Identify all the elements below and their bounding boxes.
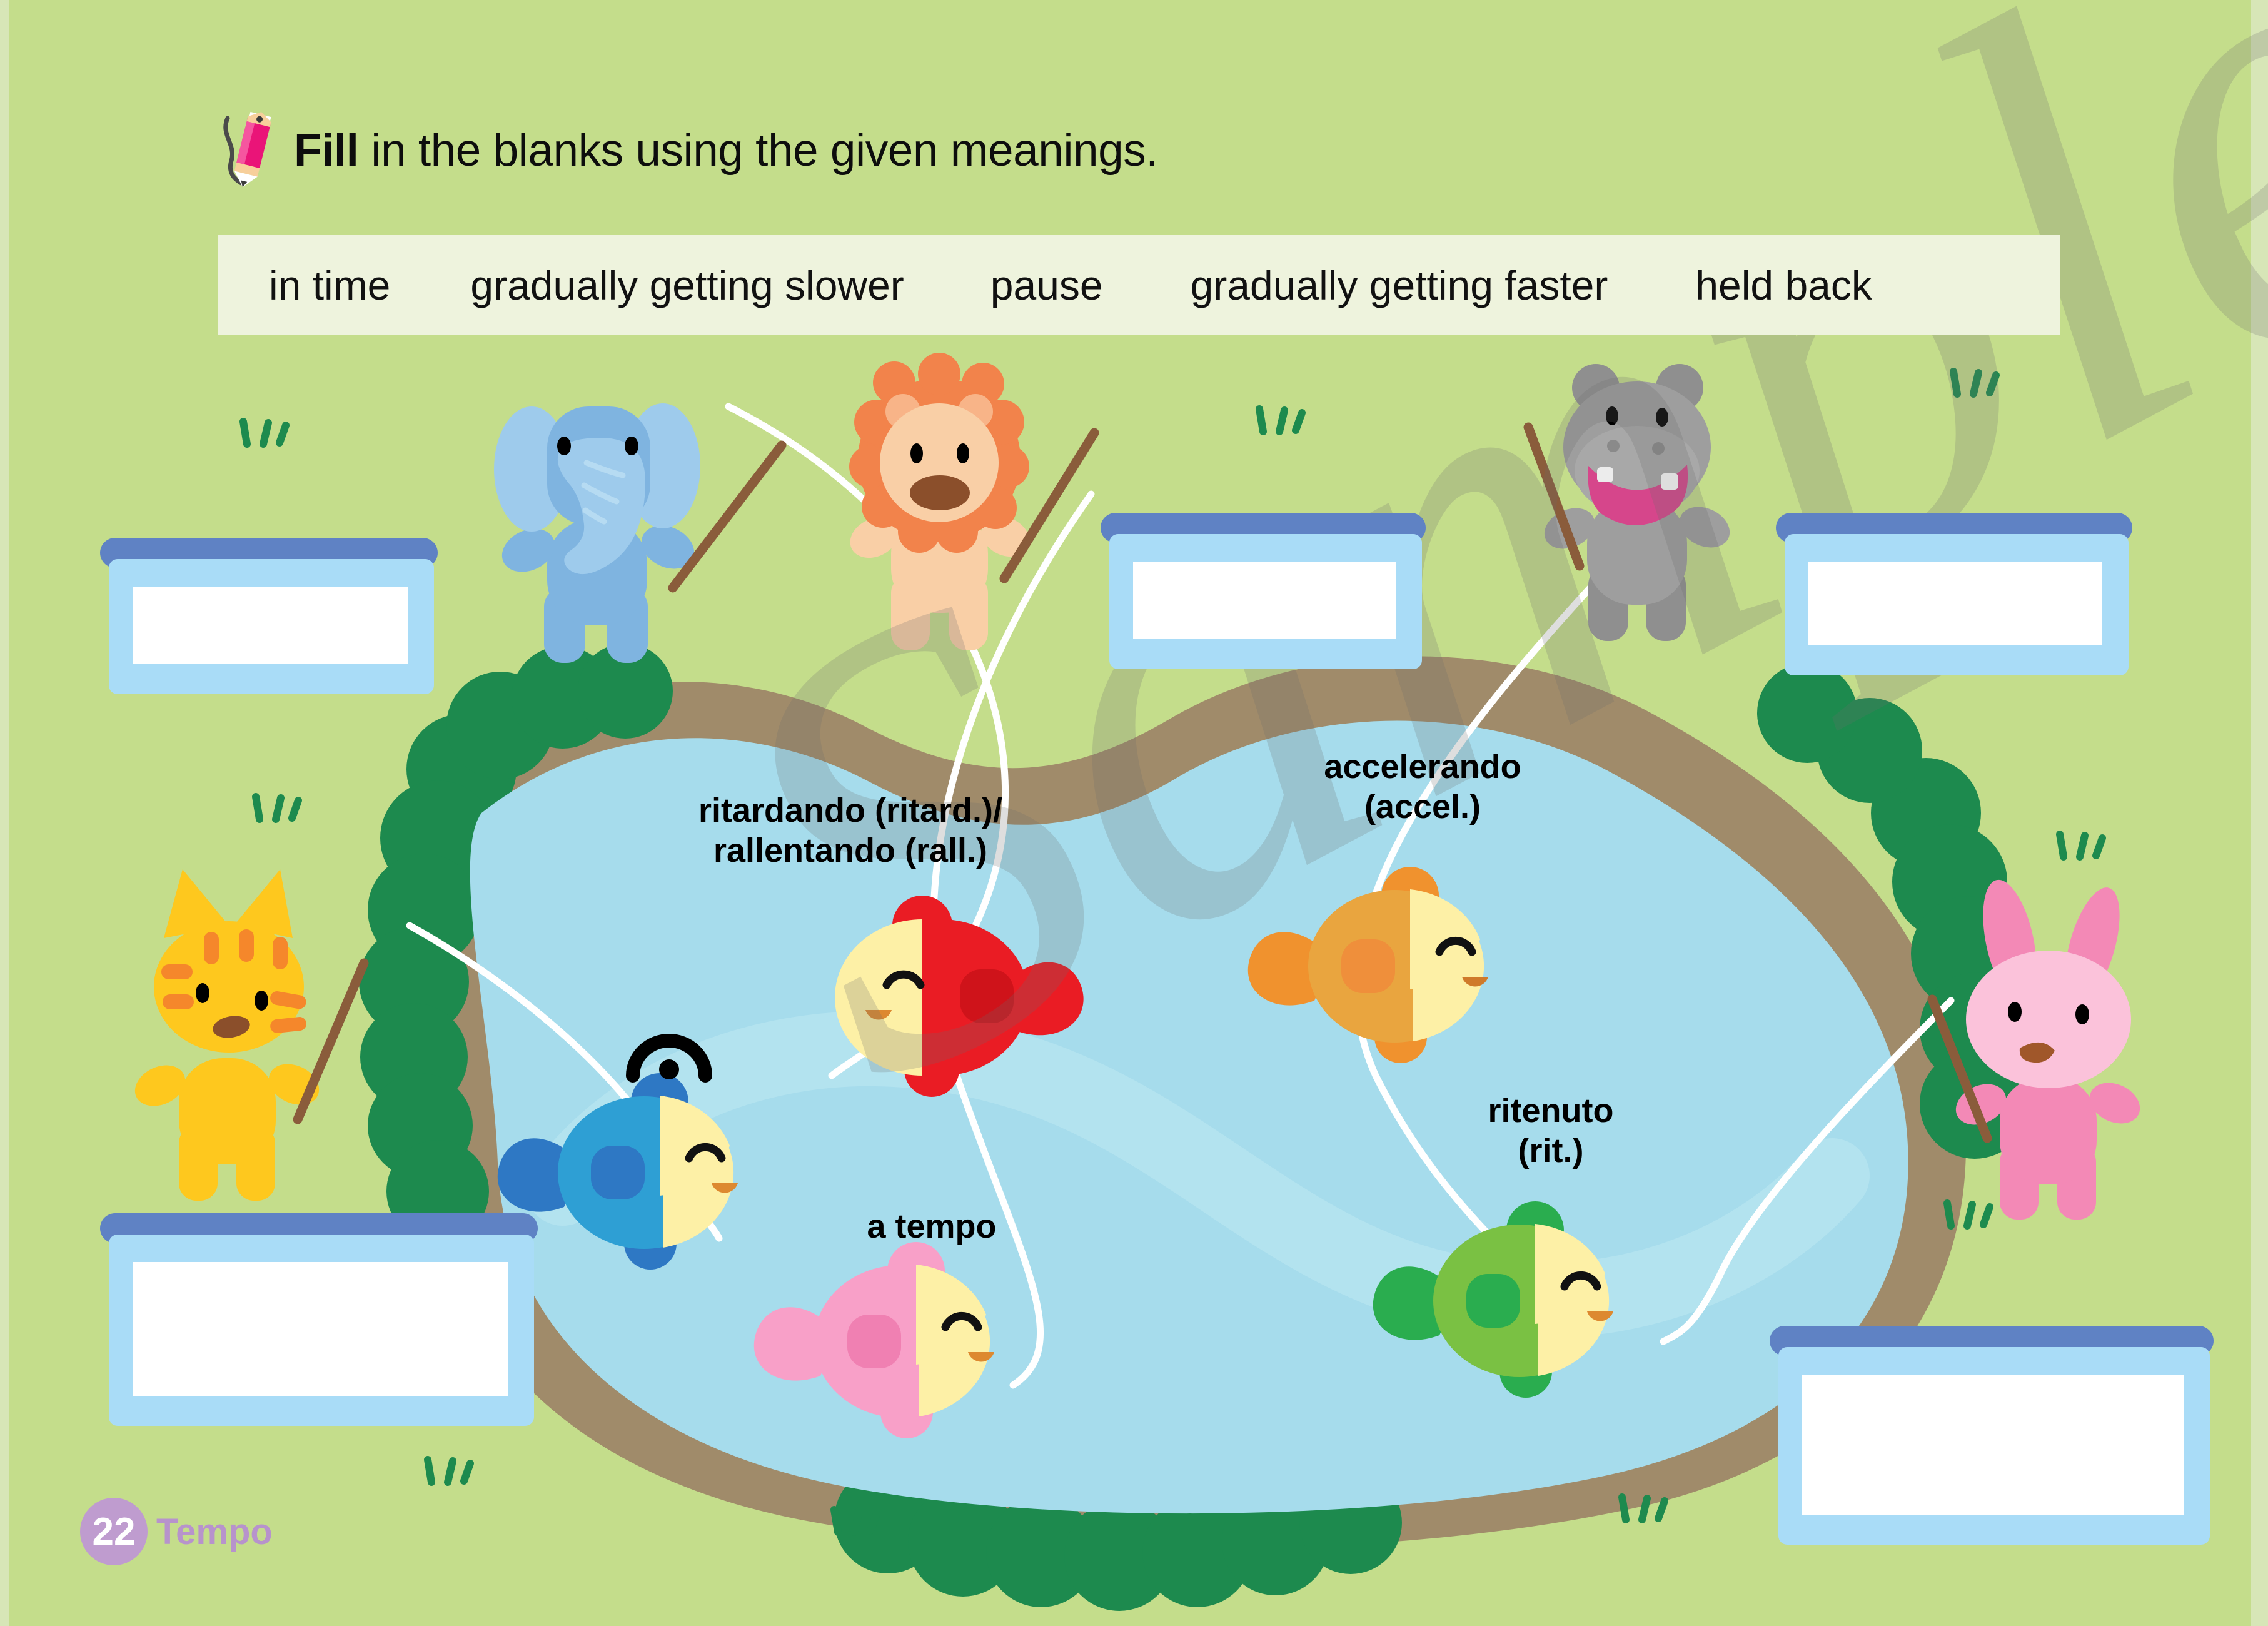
term-label-ritardando: ritardando (ritard.)/ rallentando (rall.… <box>632 791 1069 871</box>
answer-field-top-right[interactable] <box>1808 562 2102 645</box>
answer-field-top-left[interactable] <box>133 587 408 664</box>
answer-box-bottom-left[interactable] <box>100 1213 538 1426</box>
answer-box-bottom-right[interactable] <box>1770 1326 2214 1545</box>
term-label-ritenuto: ritenuto (rit.) <box>1416 1091 1685 1171</box>
answer-field-top-center[interactable] <box>1133 562 1396 639</box>
word-bank-item-faster[interactable]: gradually getting faster <box>1191 261 1608 309</box>
term-label-accelerando: accelerando (accel.) <box>1279 747 1566 827</box>
word-bank-item-in-time[interactable]: in time <box>269 261 390 309</box>
instruction-text: Fill in the blanks using the given meani… <box>294 124 1158 176</box>
word-bank-item-slower[interactable]: gradually getting slower <box>470 261 904 309</box>
answer-field-bottom-right[interactable] <box>1802 1375 2184 1515</box>
section-label: Tempo <box>156 1511 273 1553</box>
answer-field-bottom-left[interactable] <box>133 1262 508 1396</box>
instruction-header: Fill in the blanks using the given meani… <box>223 109 1158 191</box>
answer-box-top-left[interactable] <box>100 538 438 694</box>
word-bank: in time gradually getting slower pause g… <box>218 235 2060 335</box>
page-number-badge: 22 <box>80 1498 148 1565</box>
page-footer: 22 Tempo <box>80 1498 273 1565</box>
word-bank-item-pause[interactable]: pause <box>990 261 1103 309</box>
instruction-bold-word: Fill <box>294 125 358 176</box>
answer-box-top-right[interactable] <box>1776 513 2132 675</box>
pencil-icon <box>223 109 280 191</box>
word-bank-item-held-back[interactable]: held back <box>1695 261 1872 309</box>
instruction-rest: in the blanks using the given meanings. <box>358 125 1158 176</box>
worksheet-page: Sample Fill in the blanks using the give… <box>0 0 2268 1626</box>
term-label-a-tempo: a tempo <box>832 1207 1032 1247</box>
answer-box-top-center[interactable] <box>1101 513 1426 669</box>
